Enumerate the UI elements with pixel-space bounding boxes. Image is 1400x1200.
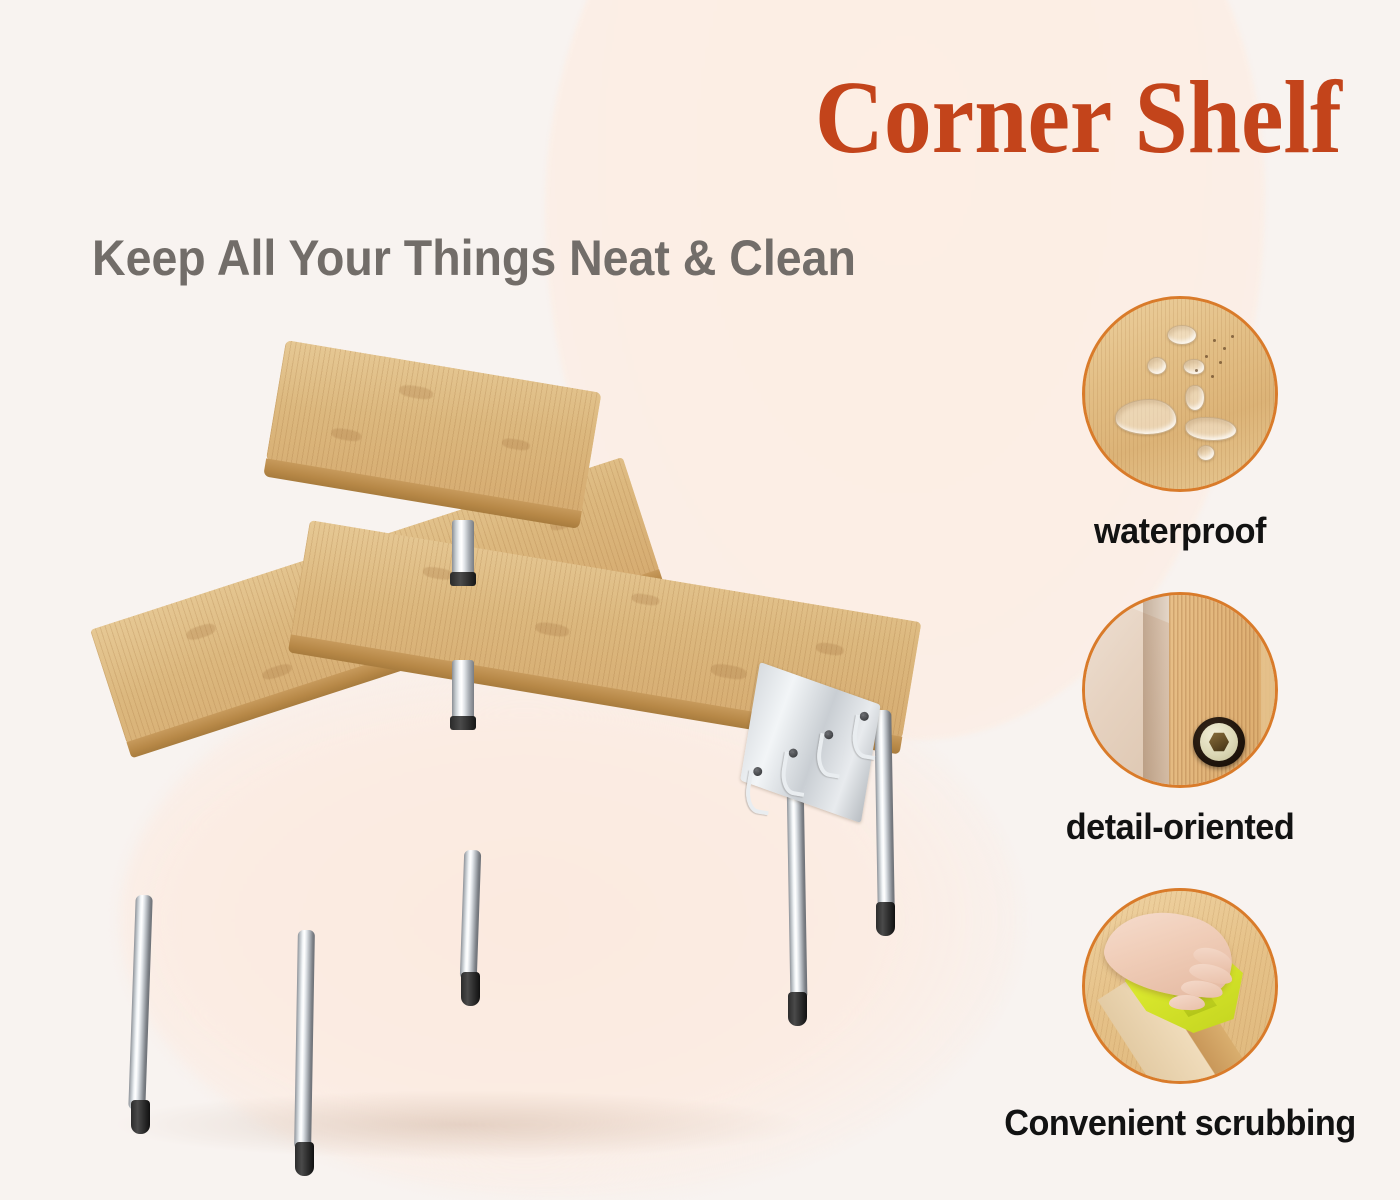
floor-shadow bbox=[110, 1090, 810, 1160]
screw-washer bbox=[1200, 723, 1238, 761]
feature-list: waterproof detail-oriented bbox=[960, 296, 1400, 1144]
shelf-leg bbox=[460, 850, 482, 981]
shelf-hook bbox=[742, 770, 775, 816]
water-speck bbox=[1213, 339, 1216, 342]
water-speck bbox=[1195, 369, 1198, 372]
shelf-leg-foot bbox=[131, 1100, 150, 1134]
hex-screw-icon bbox=[1193, 717, 1245, 767]
feature-label-detail-oriented: detail-oriented bbox=[971, 806, 1389, 848]
product-poster: Corner Shelf Keep All Your Things Neat &… bbox=[0, 0, 1400, 1200]
shelf-hook bbox=[814, 733, 847, 779]
water-droplet bbox=[1185, 417, 1237, 441]
feature-waterproof: waterproof bbox=[960, 296, 1400, 552]
shelf-hook bbox=[849, 714, 882, 760]
shelf-leg-foot bbox=[788, 992, 807, 1026]
feature-label-waterproof: waterproof bbox=[971, 510, 1389, 552]
feature-detail-oriented: detail-oriented bbox=[960, 592, 1400, 848]
water-speck bbox=[1205, 355, 1208, 358]
shelf-riser-collar bbox=[450, 716, 476, 730]
shelf-leg-foot bbox=[876, 902, 895, 936]
product-illustration bbox=[70, 330, 990, 1180]
water-droplet bbox=[1167, 325, 1197, 345]
shelf-riser-post bbox=[452, 520, 474, 578]
water-droplet bbox=[1197, 445, 1215, 461]
convenient-scrubbing-icon bbox=[1082, 888, 1278, 1084]
shelf-leg-foot bbox=[461, 972, 480, 1006]
water-speck bbox=[1231, 335, 1234, 338]
water-droplet bbox=[1115, 399, 1177, 435]
shelf-leg bbox=[128, 895, 152, 1110]
shelf-riser-post bbox=[452, 660, 474, 722]
shelf-riser-collar bbox=[450, 572, 476, 586]
screw-hex-socket bbox=[1209, 732, 1229, 752]
shelf-hook bbox=[778, 751, 811, 797]
page-title: Corner Shelf bbox=[815, 66, 1342, 170]
water-droplet bbox=[1183, 359, 1205, 375]
water-speck bbox=[1223, 347, 1226, 350]
water-droplet bbox=[1147, 357, 1167, 375]
water-droplet bbox=[1185, 385, 1205, 411]
feature-label-convenient-scrubbing: Convenient scrubbing bbox=[971, 1102, 1389, 1144]
wood-edge-secondary bbox=[1261, 592, 1278, 788]
detail-oriented-icon bbox=[1082, 592, 1278, 788]
feature-convenient-scrubbing: Convenient scrubbing bbox=[960, 888, 1400, 1144]
waterproof-icon bbox=[1082, 296, 1278, 492]
hook-group bbox=[734, 670, 908, 853]
water-speck bbox=[1211, 375, 1214, 378]
page-subtitle: Keep All Your Things Neat & Clean bbox=[92, 232, 856, 285]
shelf-leg-foot bbox=[295, 1142, 314, 1176]
water-speck bbox=[1219, 361, 1222, 364]
